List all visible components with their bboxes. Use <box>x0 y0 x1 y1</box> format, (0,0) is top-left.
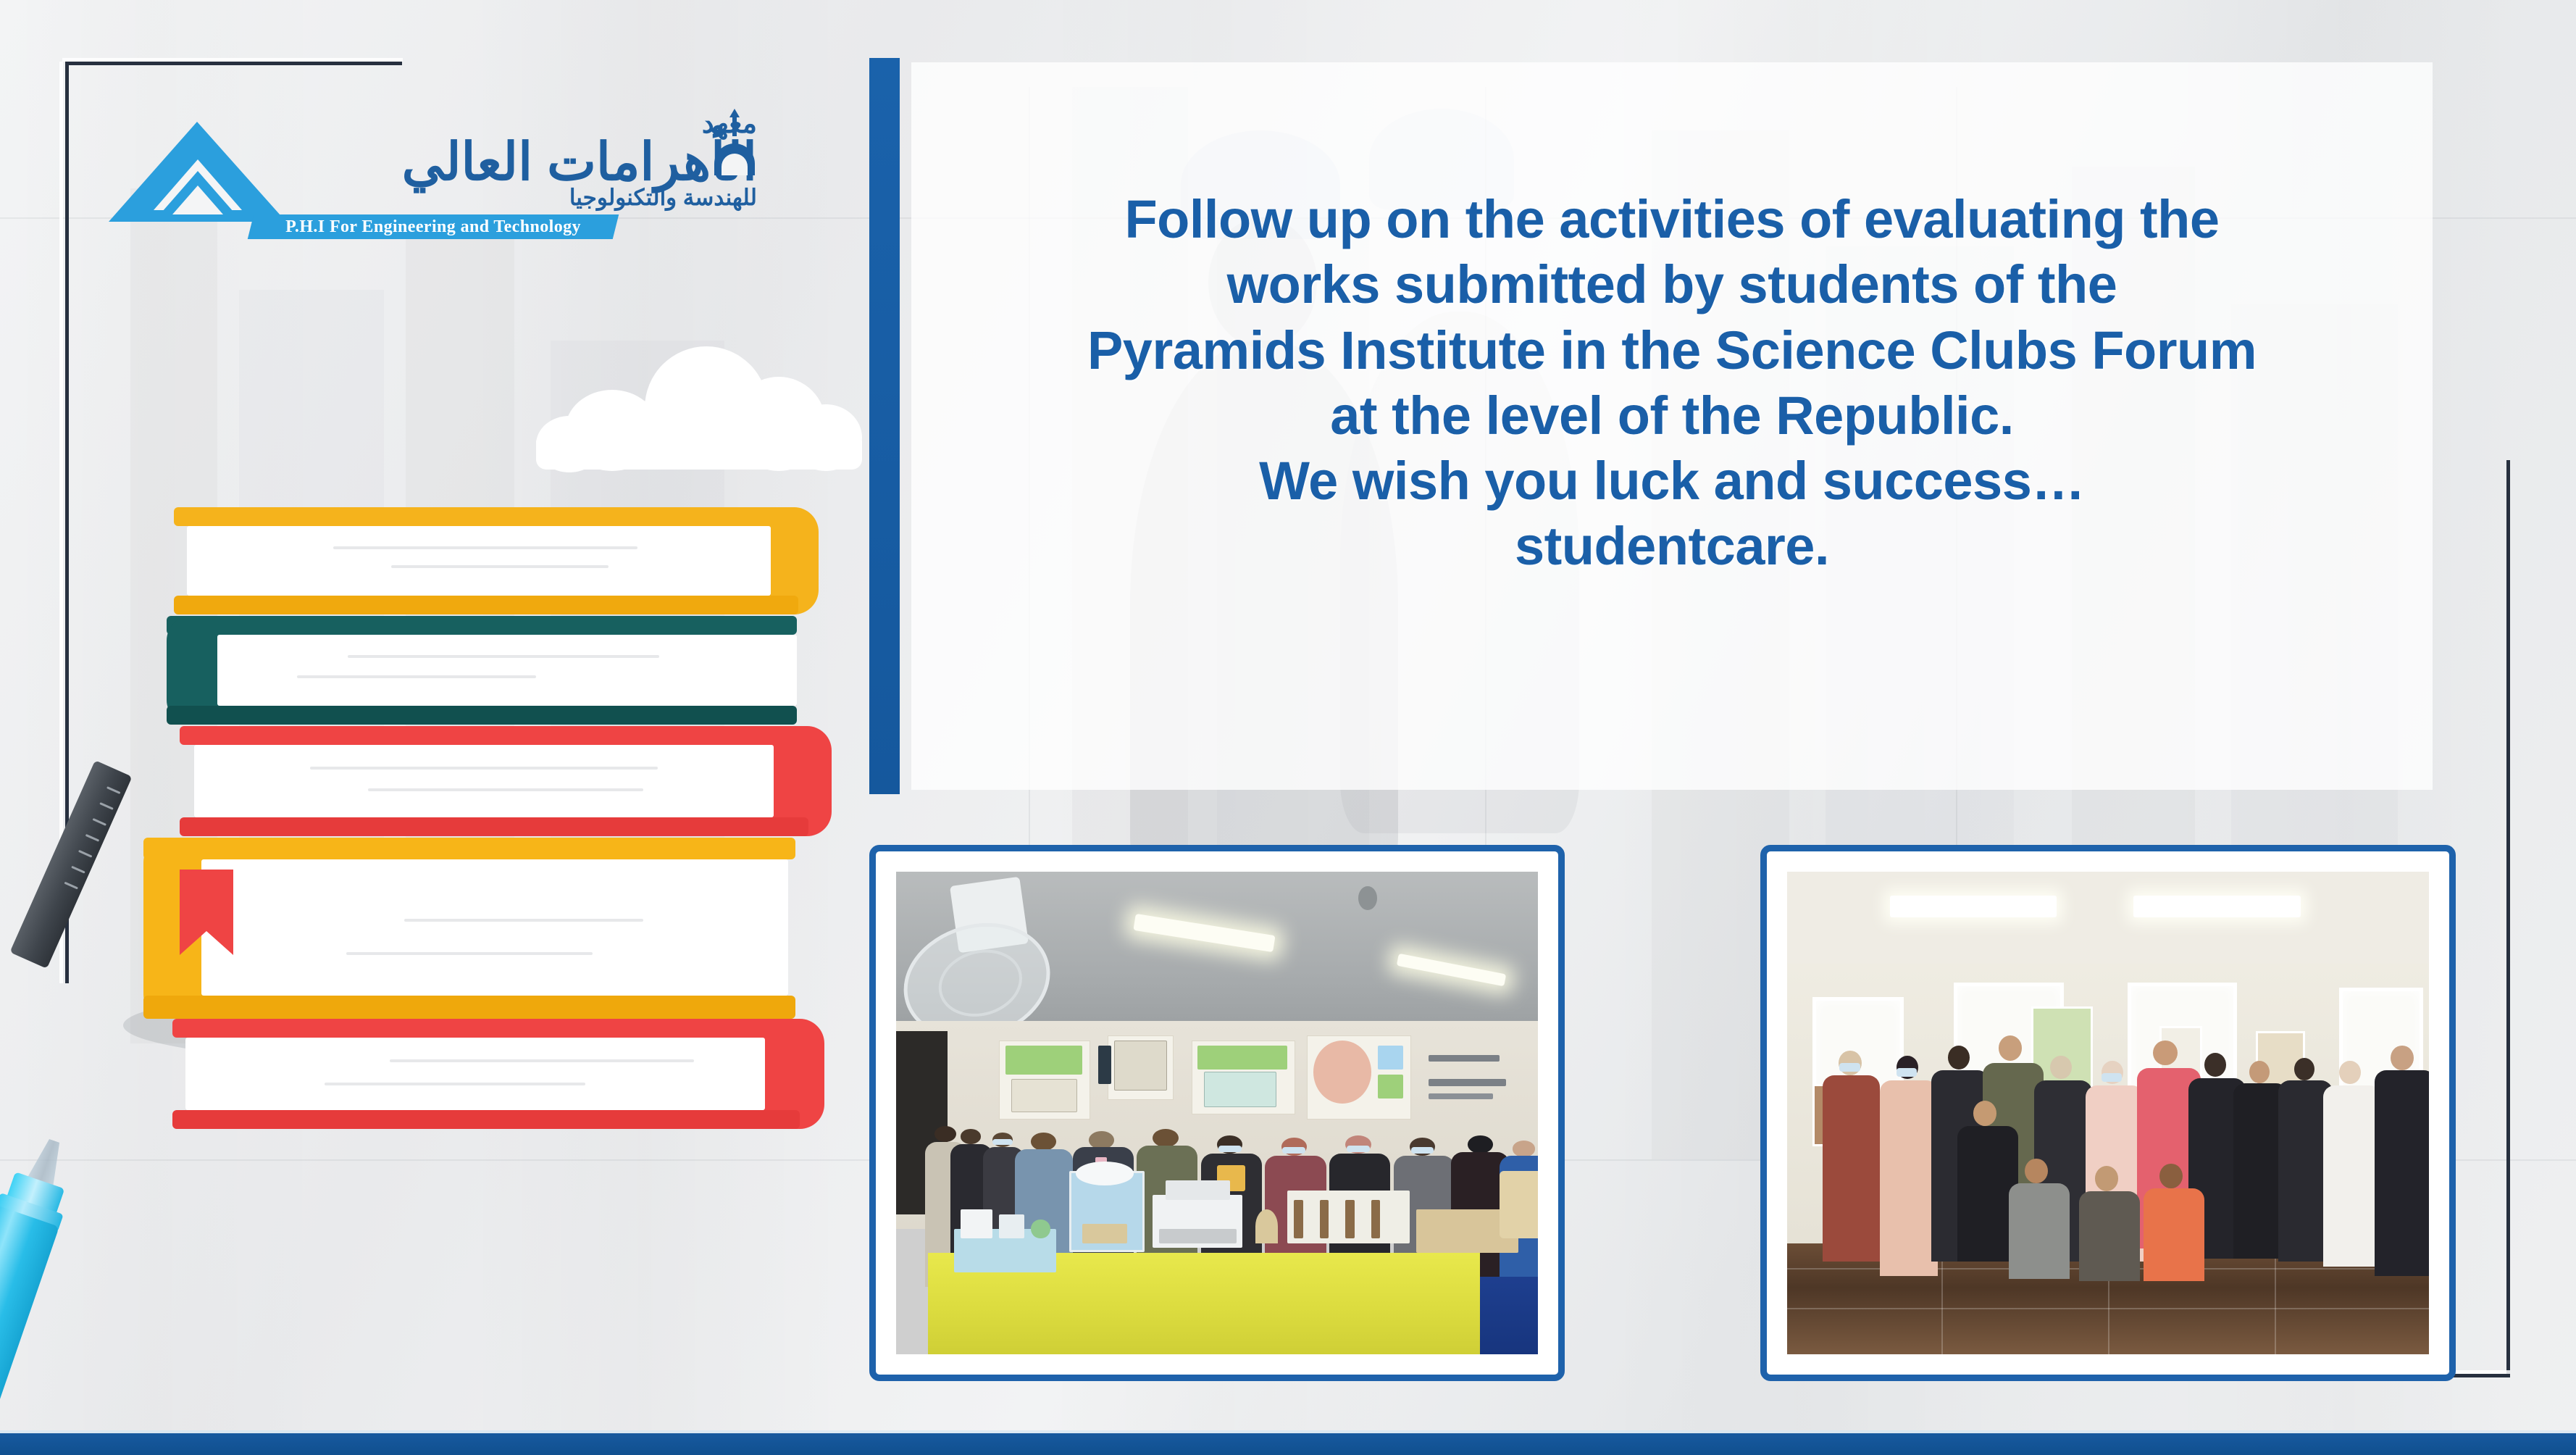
announcement-line-1: Follow up on the activities of evaluatin… <box>911 187 2433 252</box>
logo-name-english: P.H.I For Engineering and Technology <box>251 214 616 239</box>
bottom-bar <box>0 1433 2576 1455</box>
announcement-line-6: studentcare. <box>911 514 2433 579</box>
book-amber-lower <box>143 838 817 1019</box>
cloud-icon <box>536 346 862 470</box>
book-amber-top <box>174 507 819 614</box>
book-red-bottom <box>172 1019 824 1129</box>
photo-left-frame[interactable] <box>869 845 1565 1381</box>
institute-logo: معهد الأهرامات العالي للهندسة والتكنولوج… <box>109 109 761 232</box>
photo-right-frame[interactable] <box>1760 845 2456 1381</box>
frame-line-right <box>2506 460 2510 1377</box>
frame-line-top-left <box>65 62 402 65</box>
logo-text-block: معهد الأهرامات العالي للهندسة والتكنولوج… <box>279 109 757 232</box>
announcement-text: Follow up on the activities of evaluatin… <box>911 187 2433 580</box>
photo-right-people <box>1787 1046 2429 1296</box>
announcement-line-5: We wish you luck and success… <box>911 449 2433 514</box>
photo-left-image <box>896 872 1538 1354</box>
panel-accent-bar <box>869 58 900 794</box>
mosque-dome-icon <box>714 114 755 175</box>
logo-name-arabic: الأهرامات العالي <box>279 136 757 189</box>
pyramid-triangle-icon <box>109 122 286 223</box>
poster-canvas: معهد الأهرامات العالي للهندسة والتكنولوج… <box>0 0 2576 1455</box>
announcement-line-4: at the level of the Republic. <box>911 383 2433 449</box>
announcement-line-2: works submitted by students of the <box>911 252 2433 317</box>
book-teal <box>167 616 811 725</box>
announcement-line-3: Pyramids Institute in the Science Clubs … <box>911 318 2433 383</box>
logo-english-banner: P.H.I For Engineering and Technology <box>248 214 619 239</box>
book-stack-illustration <box>94 507 840 1080</box>
book-red-middle <box>180 726 832 836</box>
photo-right-image <box>1787 872 2429 1354</box>
